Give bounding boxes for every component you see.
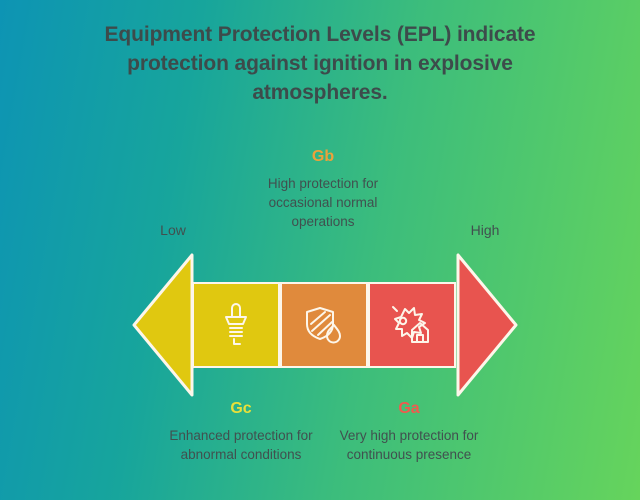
- scale-label-low: Low: [138, 222, 208, 238]
- callout-gb: Gb High protection for occasional normal…: [248, 148, 398, 231]
- explosion-house-icon: [388, 302, 436, 348]
- callout-gc-code: Gc: [165, 400, 317, 418]
- callout-gc: Gc Enhanced protection for abnormal cond…: [165, 400, 317, 464]
- callout-ga-code: Ga: [333, 400, 485, 418]
- epl-infographic: Equipment Protection Levels (EPL) indica…: [0, 0, 640, 500]
- epl-scale-arrow: [130, 252, 520, 398]
- callout-ga-description: Very high protection for continuous pres…: [333, 426, 485, 464]
- page-title: Equipment Protection Levels (EPL) indica…: [70, 20, 570, 107]
- segment-gb: [280, 282, 368, 368]
- callout-gb-code: Gb: [248, 148, 398, 166]
- callout-gb-description: High protection for occasional normal op…: [248, 174, 398, 231]
- shield-flame-icon: [301, 302, 347, 348]
- callout-ga: Ga Very high protection for continuous p…: [333, 400, 485, 464]
- segment-ga: [368, 282, 456, 368]
- scale-label-high: High: [450, 222, 520, 238]
- segment-gc: [192, 282, 280, 368]
- callout-gc-description: Enhanced protection for abnormal conditi…: [165, 426, 317, 464]
- arrow-head-left-icon: [130, 252, 194, 398]
- arrow-head-right-icon: [456, 252, 520, 398]
- spark-plug-icon: [219, 301, 253, 349]
